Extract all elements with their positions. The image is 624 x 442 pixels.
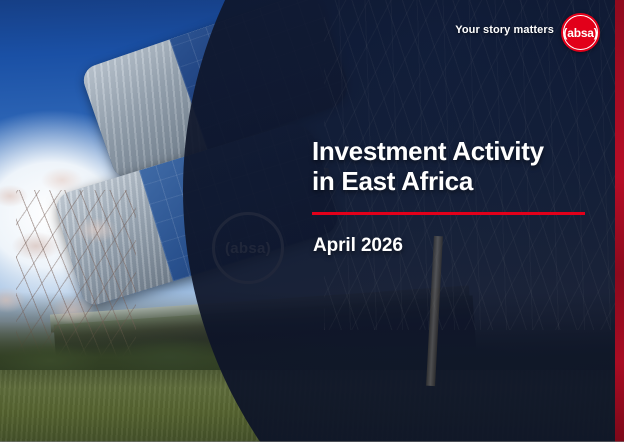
absa-logo: (absa): [561, 13, 600, 52]
presentation-date: April 2026: [313, 235, 403, 257]
title-slide: (absa) Your story matters (absa) Investm…: [0, 0, 624, 442]
title-divider: [312, 212, 585, 215]
right-edge-red-bar: [615, 0, 624, 442]
absa-logo-wordmark: (absa): [563, 26, 597, 40]
page-title-line-1: Investment Activity: [312, 136, 602, 166]
page-title: Investment Activity in East Africa: [312, 136, 602, 197]
brand-tagline: Your story matters: [455, 24, 554, 36]
page-title-line-2: in East Africa: [312, 166, 602, 196]
